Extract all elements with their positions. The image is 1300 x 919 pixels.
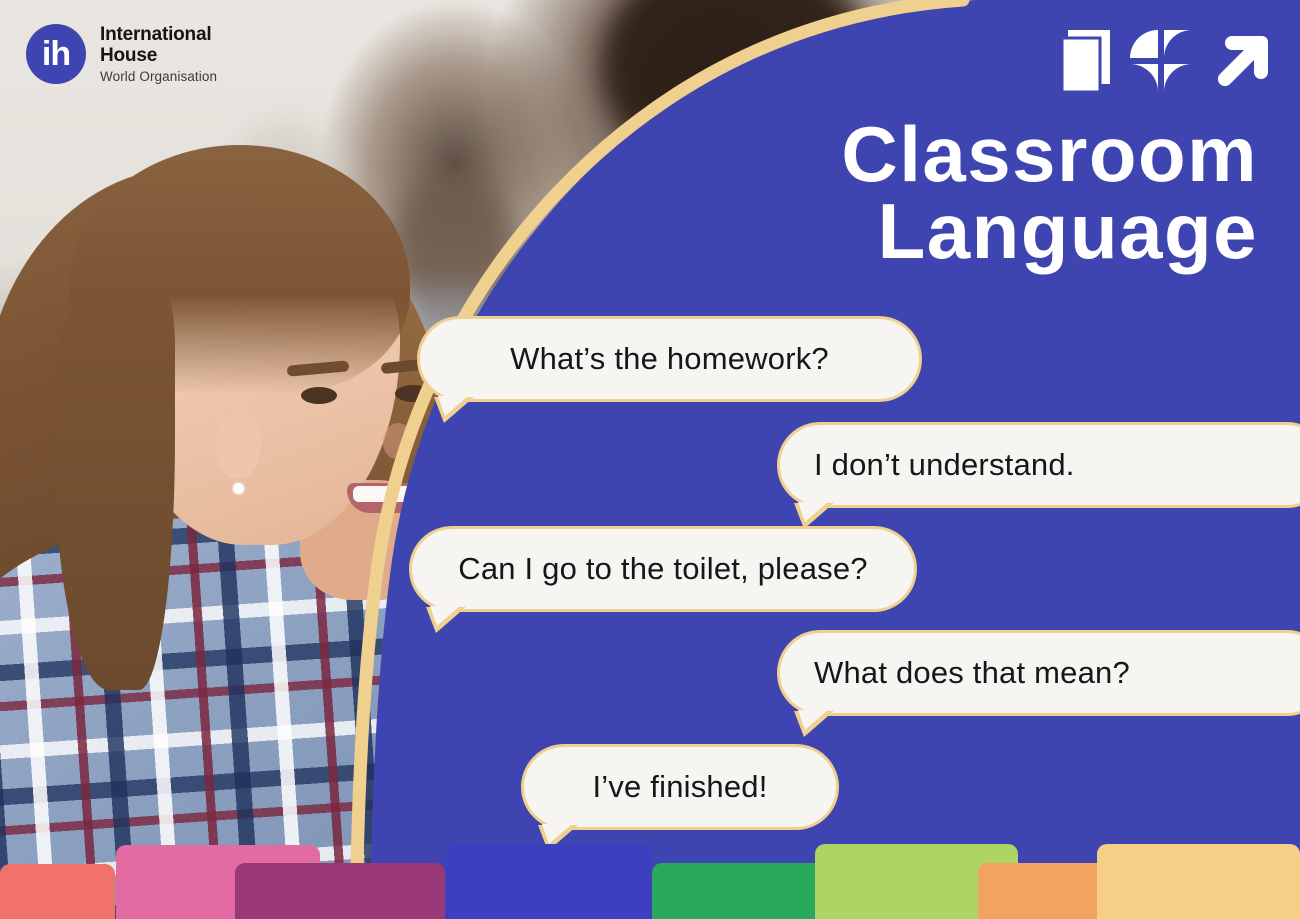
bubble-tail: [426, 607, 466, 633]
bubble-toilet-text: Can I go to the toilet, please?: [458, 551, 867, 587]
bubble-understand-text: I don’t understand.: [814, 447, 1075, 483]
block-blue: [446, 844, 651, 919]
bubble-finished-text: I’ve finished!: [592, 769, 767, 805]
block-coral: [0, 864, 115, 919]
bubble-finished[interactable]: I’ve finished!: [521, 744, 839, 830]
bubble-meaning-text: What does that mean?: [814, 655, 1130, 691]
bubble-toilet[interactable]: Can I go to the toilet, please?: [409, 526, 917, 612]
bubble-understand[interactable]: I don’t understand.: [777, 422, 1300, 508]
bubble-meaning[interactable]: What does that mean?: [777, 630, 1300, 716]
bottom-color-blocks: [0, 839, 1300, 919]
bubble-homework-text: What’s the homework?: [510, 341, 829, 377]
block-orange: [978, 863, 1108, 919]
block-green: [652, 863, 827, 919]
bubble-tail: [794, 711, 834, 737]
bubble-homework[interactable]: What’s the homework?: [417, 316, 922, 402]
bubble-tail: [434, 397, 474, 423]
speech-bubble-group: What’s the homework? I don’t understand.…: [0, 0, 1300, 919]
poster-canvas: ih International House World Organisatio…: [0, 0, 1300, 919]
block-magenta: [235, 863, 445, 919]
block-sand: [1097, 844, 1300, 919]
